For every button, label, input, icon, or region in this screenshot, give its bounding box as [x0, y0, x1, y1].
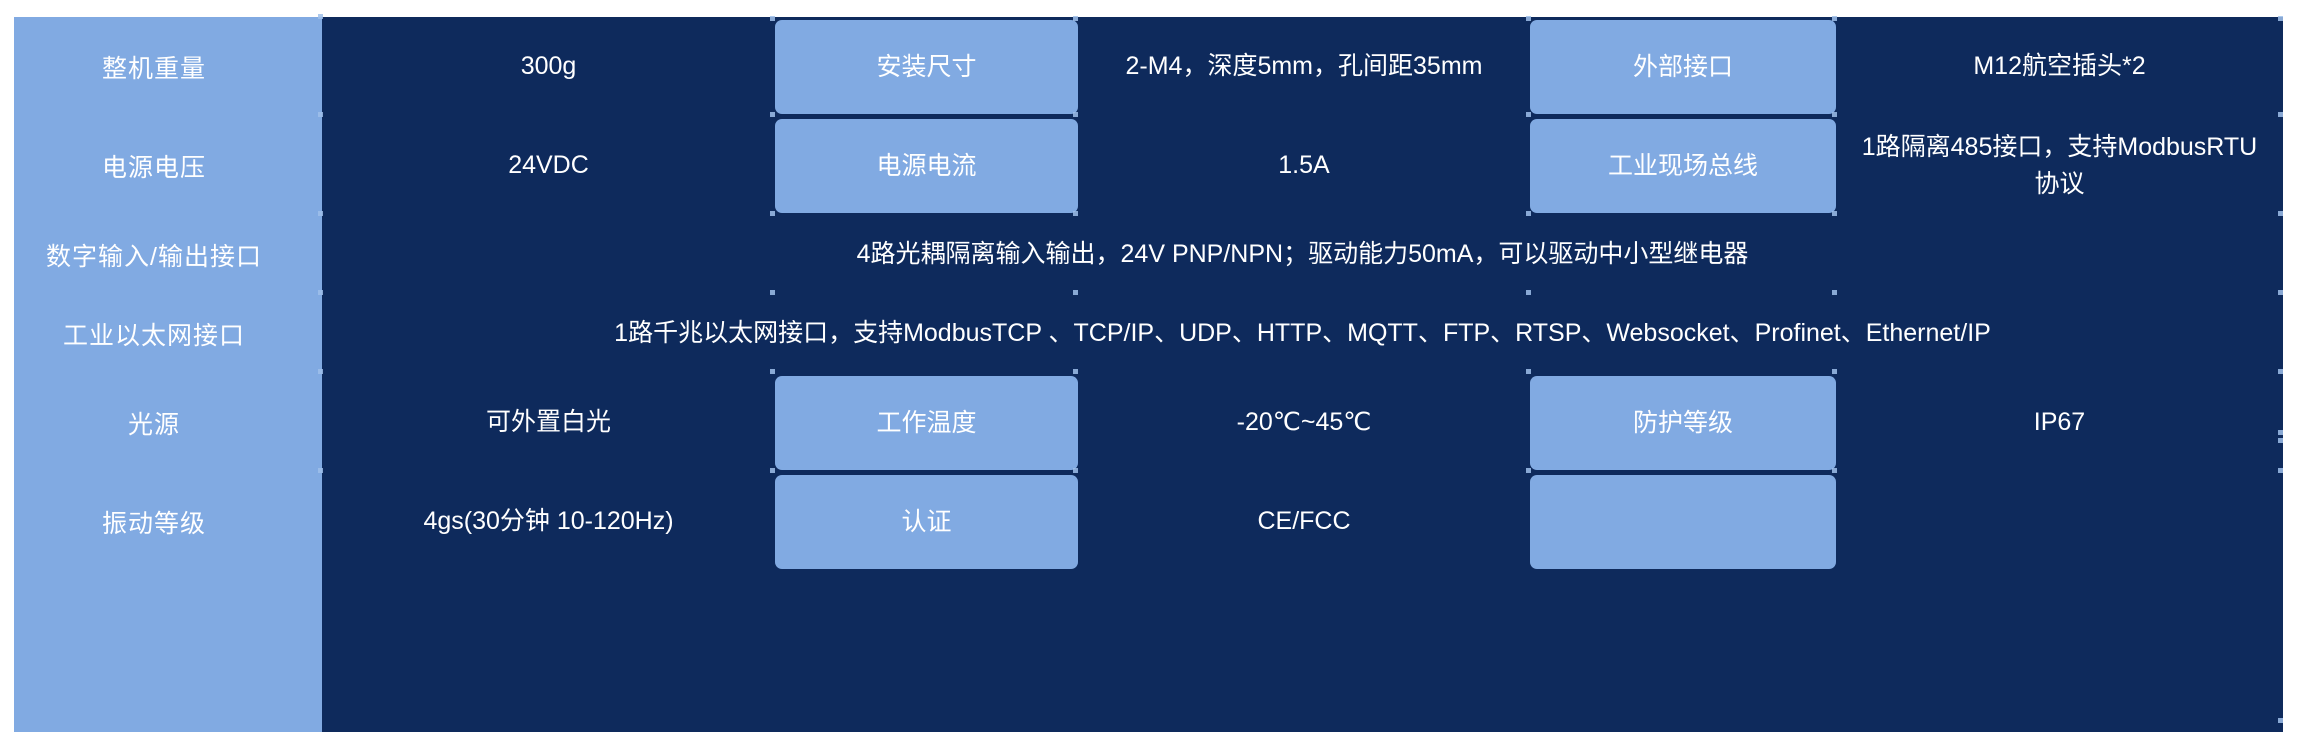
- row-0-key-3: 外部接口: [1530, 20, 1836, 114]
- selection-handle[interactable]: [318, 369, 323, 374]
- row-4-value-3: IP67: [1836, 373, 2283, 472]
- row-3-value: 1路千兆以太网接口，支持ModbusTCP 、TCP/IP、UDP、HTTP、M…: [322, 294, 2283, 373]
- selection-handle[interactable]: [318, 112, 323, 117]
- spec-table-slide: 整机重量 电源电压 数字输入/输出接口 工业以太网接口 光源 振动等级 300g…: [0, 0, 2300, 732]
- row-5-key-3: [1530, 475, 1836, 569]
- selection-handle[interactable]: [1832, 16, 1837, 21]
- selection-handle[interactable]: [770, 369, 775, 374]
- selection-handle[interactable]: [2278, 718, 2283, 723]
- selection-handle[interactable]: [2278, 16, 2283, 21]
- selection-handle[interactable]: [1073, 211, 1078, 216]
- row-label-4: 光源: [0, 373, 308, 472]
- row-4-key-2: 工作温度: [775, 376, 1078, 470]
- selection-handle[interactable]: [1073, 468, 1078, 473]
- row-label-5: 振动等级: [0, 472, 308, 571]
- row-0-key-2: 安装尺寸: [775, 20, 1078, 114]
- selection-handle[interactable]: [2278, 290, 2283, 295]
- row-0-value-1: 300g: [322, 17, 775, 116]
- row-5-value-1: 4gs(30分钟 10-120Hz): [322, 472, 775, 571]
- row-4-value-1: 可外置白光: [322, 373, 775, 472]
- row-label-1: 电源电压: [0, 116, 308, 215]
- row-0-value-3: M12航空插头*2: [1836, 17, 2283, 116]
- selection-handle[interactable]: [770, 211, 775, 216]
- selection-handle[interactable]: [1526, 16, 1531, 21]
- selection-handle[interactable]: [770, 16, 775, 21]
- row-1-value-1: 24VDC: [322, 116, 775, 215]
- selection-handle[interactable]: [2278, 211, 2283, 216]
- row-1-value-3: 1路隔离485接口，支持ModbusRTU协议: [1836, 116, 2283, 215]
- selection-handle[interactable]: [1526, 468, 1531, 473]
- selection-handle[interactable]: [1526, 369, 1531, 374]
- selection-handle[interactable]: [1526, 211, 1531, 216]
- selection-handle[interactable]: [1526, 112, 1531, 117]
- selection-handle[interactable]: [318, 290, 323, 295]
- row-2-value: 4路光耦隔离输入输出，24V PNP/NPN；驱动能力50mA，可以驱动中小型继…: [322, 215, 2283, 294]
- selection-handle[interactable]: [770, 112, 775, 117]
- selection-handle[interactable]: [2278, 369, 2283, 374]
- row-1-key-2: 电源电流: [775, 119, 1078, 213]
- selection-handle[interactable]: [770, 290, 775, 295]
- row-0-value-2: 2-M4，深度5mm，孔间距35mm: [1078, 17, 1530, 116]
- row-1-value-2: 1.5A: [1078, 116, 1530, 215]
- selection-handle[interactable]: [1073, 112, 1078, 117]
- selection-handle[interactable]: [1526, 290, 1531, 295]
- selection-handle[interactable]: [318, 14, 323, 19]
- selection-handle[interactable]: [318, 468, 323, 473]
- row-5-value-3: [1836, 472, 2283, 571]
- row-4-key-3: 防护等级: [1530, 376, 1836, 470]
- selection-handle[interactable]: [770, 468, 775, 473]
- selection-handle[interactable]: [2278, 438, 2283, 443]
- selection-handle[interactable]: [1832, 290, 1837, 295]
- row-1-key-3: 工业现场总线: [1530, 119, 1836, 213]
- selection-handle[interactable]: [1073, 16, 1078, 21]
- selection-handle[interactable]: [1832, 369, 1837, 374]
- selection-handle[interactable]: [1832, 211, 1837, 216]
- selection-handle[interactable]: [2278, 430, 2283, 435]
- selection-handle[interactable]: [1073, 369, 1078, 374]
- row-4-value-2: -20℃~45℃: [1078, 373, 1530, 472]
- row-5-value-2: CE/FCC: [1078, 472, 1530, 571]
- row-5-key-2: 认证: [775, 475, 1078, 569]
- selection-handle[interactable]: [1832, 468, 1837, 473]
- selection-handle[interactable]: [1832, 112, 1837, 117]
- selection-handle[interactable]: [318, 211, 323, 216]
- selection-handle[interactable]: [2278, 468, 2283, 473]
- row-label-2: 数字输入/输出接口: [0, 215, 308, 294]
- selection-handle[interactable]: [2278, 112, 2283, 117]
- row-label-0: 整机重量: [0, 17, 308, 116]
- selection-handle[interactable]: [1073, 290, 1078, 295]
- row-label-3: 工业以太网接口: [0, 294, 308, 373]
